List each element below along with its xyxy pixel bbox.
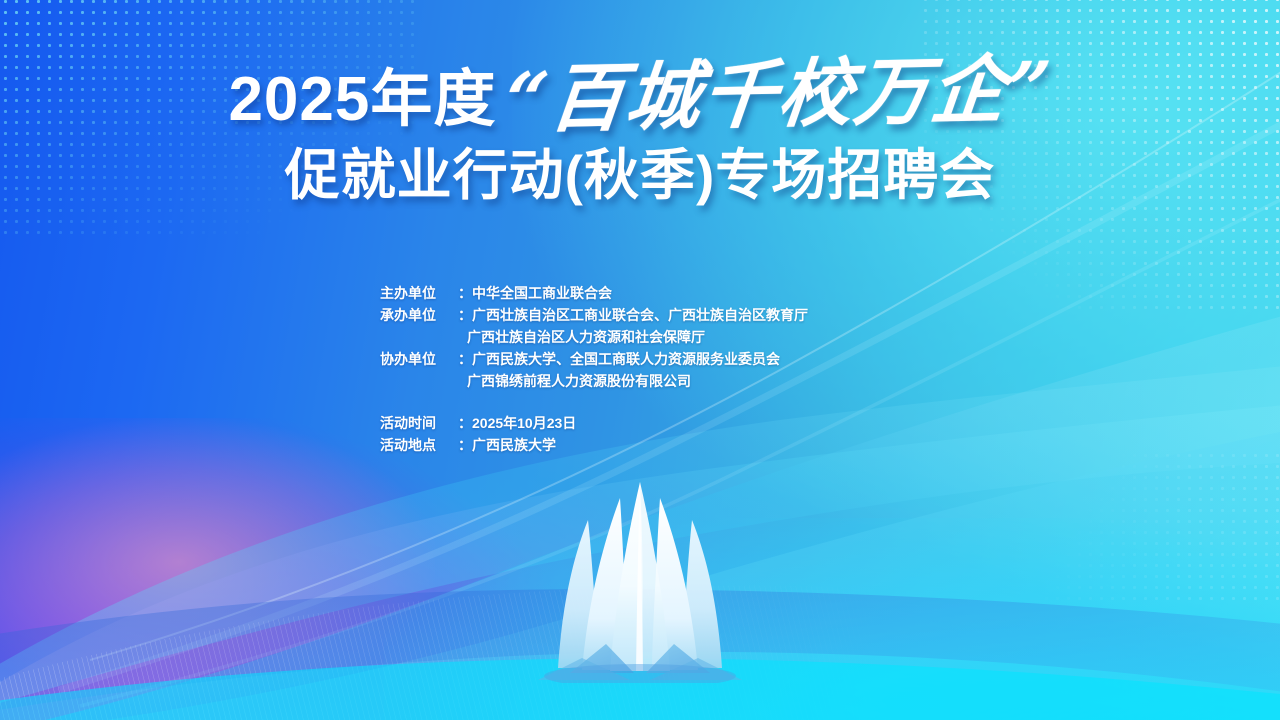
host-value-line-2: 广西壮族自治区人力资源和社会保障厅 <box>467 326 705 348</box>
headline-year: 2025年度 <box>228 69 496 131</box>
organizer-colon: ： <box>458 282 472 304</box>
coorganizer-value-line-1: 广西民族大学、全国工商联人力资源服务业委员会 <box>472 348 780 370</box>
organizer-label: 主办单位 <box>380 282 458 304</box>
date-colon: ： <box>458 412 472 434</box>
coorganizer-value-line-2: 广西锦绣前程人力资源股份有限公司 <box>467 370 691 392</box>
poster-canvas: 2025年度 “百城千校万企” 促就业行动(秋季)专场招聘会 主办单位 ： 中华… <box>0 0 1280 720</box>
info-row-venue: 活动地点 ： 广西民族大学 <box>380 434 900 456</box>
host-value-line-1: 广西壮族自治区工商业联合会、广西壮族自治区教育厅 <box>472 304 808 326</box>
date-value: 2025年10月23日 <box>472 412 576 434</box>
info-row-host: 承办单位 ： 广西壮族自治区工商业联合会、广西壮族自治区教育厅 <box>380 304 900 326</box>
venue-colon: ： <box>458 434 472 456</box>
headline-line-1: 2025年度 “百城千校万企” <box>0 58 1280 132</box>
info-row-host-cont: 广西壮族自治区人力资源和社会保障厅 <box>380 326 900 348</box>
host-label: 承办单位 <box>380 304 458 326</box>
organizer-value: 中华全国工商业联合会 <box>472 282 612 304</box>
headline-calligraphy: “百城千校万企” <box>502 52 1056 137</box>
coorganizer-colon: ： <box>458 348 472 370</box>
host-colon: ： <box>458 304 472 326</box>
coorganizer-label: 协办单位 <box>380 348 458 370</box>
date-label: 活动时间 <box>380 412 458 434</box>
event-info-block: 主办单位 ： 中华全国工商业联合会 承办单位 ： 广西壮族自治区工商业联合会、广… <box>0 282 1280 456</box>
headline-block: 2025年度 “百城千校万企” 促就业行动(秋季)专场招聘会 <box>0 58 1280 205</box>
info-row-organizer: 主办单位 ： 中华全国工商业联合会 <box>380 282 900 304</box>
info-row-coorganizer: 协办单位 ： 广西民族大学、全国工商联人力资源服务业委员会 <box>380 348 900 370</box>
venue-label: 活动地点 <box>380 434 458 456</box>
landmark-monument-icon <box>510 468 770 683</box>
info-row-date: 活动时间 ： 2025年10月23日 <box>380 412 900 434</box>
info-row-coorganizer-cont: 广西锦绣前程人力资源股份有限公司 <box>380 370 900 392</box>
headline-subtitle: 促就业行动(秋季)专场招聘会 <box>0 146 1280 205</box>
info-spacer <box>380 392 900 412</box>
venue-value: 广西民族大学 <box>472 434 556 456</box>
